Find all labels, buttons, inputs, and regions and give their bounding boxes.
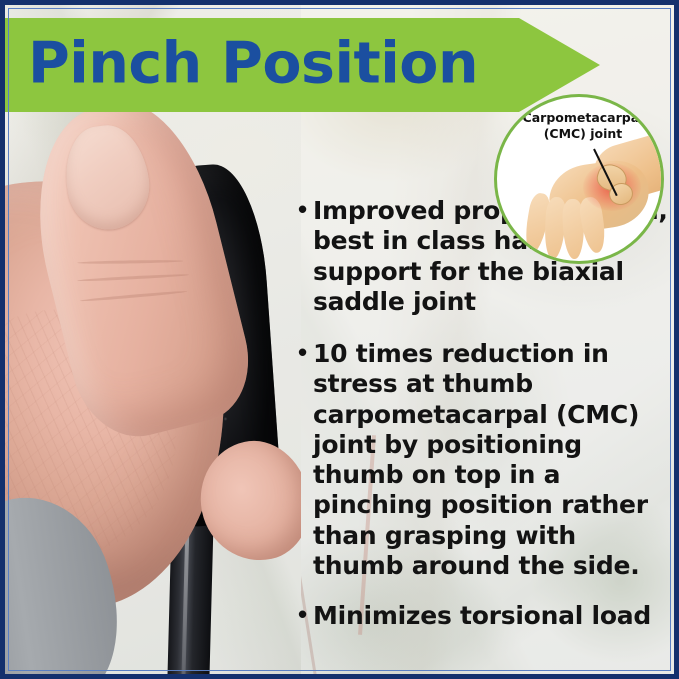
list-item-text: 10 times reduction in stress at thumb ca…	[313, 339, 670, 581]
benefits-list: • Improved proprioception, best in class…	[298, 196, 670, 647]
cmc-label-line1: Carpometacarpal	[523, 110, 644, 125]
cmc-joint-inset: Carpometacarpal(CMC) joint	[494, 94, 664, 264]
title-banner: Pinch Position	[0, 18, 600, 112]
bullet-dot-icon: •	[298, 196, 313, 223]
bullet-dot-icon: •	[298, 601, 313, 628]
thumb-crease	[77, 273, 189, 282]
thumbnail	[59, 120, 155, 234]
bullet-dot-icon: •	[298, 339, 313, 366]
list-item: • Minimizes torsional load	[298, 601, 670, 631]
cmc-joint-label: Carpometacarpal(CMC) joint	[513, 110, 653, 142]
thumb-crease	[77, 260, 183, 265]
infographic-root: Pinch Position Carpometacarpal(CMC) join…	[0, 0, 679, 679]
page-title: Pinch Position	[28, 31, 478, 97]
list-item: • 10 times reduction in stress at thumb …	[298, 339, 670, 581]
cmc-label-line2: (CMC) joint	[544, 126, 623, 141]
list-item-text: Minimizes torsional load	[313, 601, 670, 631]
thumb-crease	[80, 290, 188, 302]
